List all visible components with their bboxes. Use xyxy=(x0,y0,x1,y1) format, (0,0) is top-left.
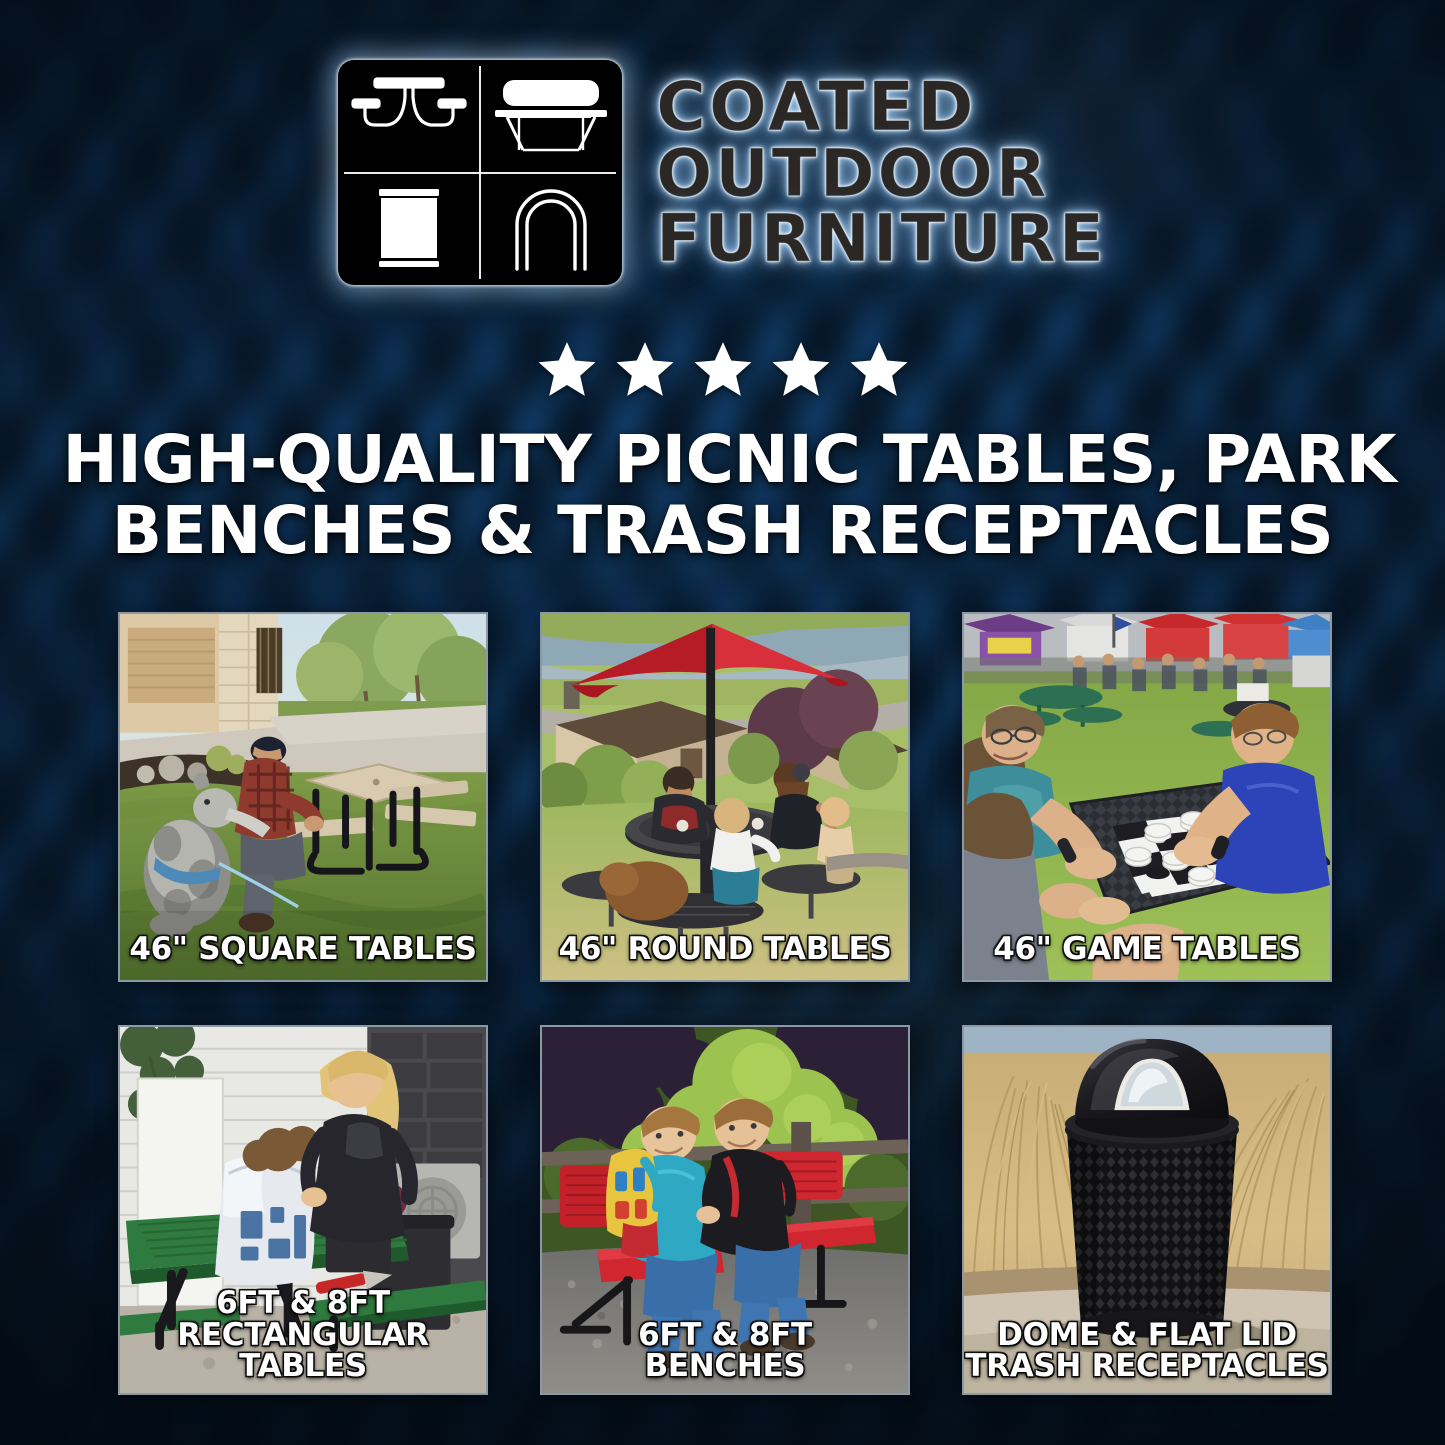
product-photo-square-tables xyxy=(120,614,486,980)
caption-line-2: TRASH RECEPTACLES xyxy=(964,1351,1330,1383)
star-icon-3 xyxy=(691,338,755,400)
trash-receptacle-icon xyxy=(338,173,480,286)
product-photo-round-tables xyxy=(542,614,908,980)
caption-line-1: 46" ROUND TABLES xyxy=(542,934,908,966)
caption-line-1: 46" SQUARE TABLES xyxy=(120,934,486,966)
headline-line-2: BENCHES & TRASH RECEPTACLES xyxy=(63,496,1383,567)
caption-line-1: 6FT & 8FT xyxy=(120,1288,486,1320)
product-caption-trash-receptacles: DOME & FLAT LID TRASH RECEPTACLES xyxy=(964,1320,1330,1383)
caption-line-1: DOME & FLAT LID xyxy=(964,1320,1330,1352)
caption-line-1: 6FT & 8FT xyxy=(542,1320,908,1352)
product-tile-trash-receptacles[interactable]: DOME & FLAT LID TRASH RECEPTACLES xyxy=(962,1025,1332,1395)
brand-name-line-3: FURNITURE xyxy=(656,207,1107,270)
product-caption-benches: 6FT & 8FT BENCHES xyxy=(542,1320,908,1383)
star-icon-4 xyxy=(769,338,833,400)
caption-line-2: RECTANGULAR TABLES xyxy=(120,1320,486,1383)
product-tile-rectangular-tables[interactable]: 6FT & 8FT RECTANGULAR TABLES xyxy=(118,1025,488,1395)
star-icon-2 xyxy=(613,338,677,400)
product-grid: 46" SQUARE TABLES xyxy=(118,612,1333,1395)
product-tile-square-tables[interactable]: 46" SQUARE TABLES xyxy=(118,612,488,982)
product-caption-game-tables: 46" GAME TABLES xyxy=(964,934,1330,966)
brand-name-line-1: COATED xyxy=(656,75,1107,140)
brand-name: COATED OUTDOOR FURNITURE xyxy=(656,75,1107,271)
brand-logo-mark xyxy=(338,60,622,285)
page-headline: HIGH-QUALITY PICNIC TABLES, PARK BENCHES… xyxy=(63,425,1383,566)
product-caption-round-tables: 46" ROUND TABLES xyxy=(542,934,908,966)
headline-line-1: HIGH-QUALITY PICNIC TABLES, PARK xyxy=(63,425,1383,496)
brand-name-line-2: OUTDOOR xyxy=(656,142,1107,205)
bike-rack-icon xyxy=(480,173,622,286)
product-caption-rectangular-tables: 6FT & 8FT RECTANGULAR TABLES xyxy=(120,1288,486,1383)
product-tile-round-tables[interactable]: 46" ROUND TABLES xyxy=(540,612,910,982)
caption-line-2: BENCHES xyxy=(542,1351,908,1383)
caption-line-1: 46" GAME TABLES xyxy=(964,934,1330,966)
brand-header: COATED OUTDOOR FURNITURE xyxy=(0,60,1445,285)
product-photo-game-tables xyxy=(964,614,1330,980)
product-tile-game-tables[interactable]: 46" GAME TABLES xyxy=(962,612,1332,982)
star-icon-1 xyxy=(535,338,599,400)
park-bench-icon xyxy=(480,60,622,173)
picnic-table-icon xyxy=(338,60,480,173)
logo-divider-horizontal xyxy=(344,172,616,174)
product-caption-square-tables: 46" SQUARE TABLES xyxy=(120,934,486,966)
product-tile-benches[interactable]: 6FT & 8FT BENCHES xyxy=(540,1025,910,1395)
star-icon-5 xyxy=(847,338,911,400)
rating-stars xyxy=(0,338,1445,400)
